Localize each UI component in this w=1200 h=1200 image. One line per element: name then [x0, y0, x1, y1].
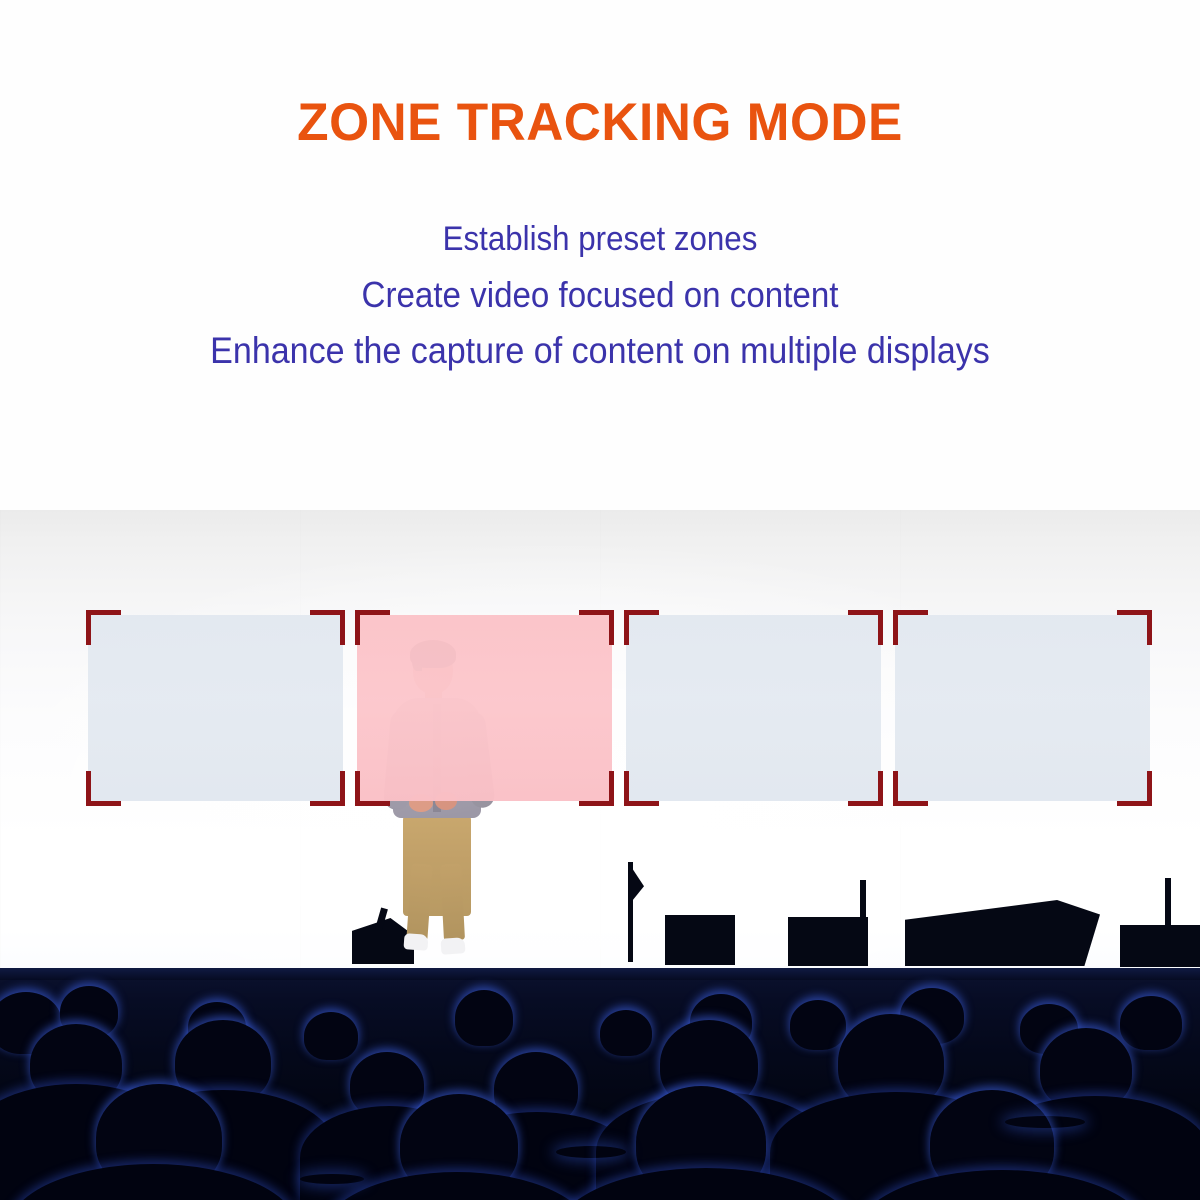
audience-head: [304, 1012, 358, 1060]
zone-4-bracket-bottom-right: [1117, 771, 1152, 806]
zone-1-bracket-bottom-left: [86, 771, 121, 806]
zone-3-bracket-top-right: [848, 610, 883, 645]
rim-light-glint: [556, 1146, 626, 1158]
audience-head: [600, 1010, 652, 1056]
zone-4-bracket-bottom-left: [893, 771, 928, 806]
audience-head: [455, 990, 513, 1046]
zone-3-fill: [626, 615, 881, 801]
zone-2-bracket-bottom-right: [579, 771, 614, 806]
promo-panel: ZONE TRACKING MODE Establish preset zone…: [0, 0, 1200, 1200]
zone-4-fill: [895, 615, 1150, 801]
stage-photo: [0, 510, 1200, 1200]
zone-2-fill: [357, 615, 612, 801]
rim-light-glint: [300, 1174, 364, 1184]
audience-head: [1120, 996, 1182, 1050]
zone-1-bracket-top-right: [310, 610, 345, 645]
feature-list: Establish preset zones Create video focu…: [0, 212, 1200, 379]
zone-4-bracket-top-right: [1117, 610, 1152, 645]
audience-head: [790, 1000, 846, 1050]
zone-1-bracket-top-left: [86, 610, 121, 645]
tracking-zones-overlay: [0, 510, 1200, 972]
tracking-zone-1[interactable]: [88, 615, 343, 801]
tracking-zone-2[interactable]: [357, 615, 612, 801]
zone-2-bracket-top-right: [579, 610, 614, 645]
feature-line-3: Enhance the capture of content on multip…: [48, 322, 1152, 379]
zone-2-bracket-bottom-left: [355, 771, 390, 806]
zone-4-bracket-top-left: [893, 610, 928, 645]
feature-line-1: Establish preset zones: [48, 212, 1152, 267]
tracking-zone-4[interactable]: [895, 615, 1150, 801]
feature-line-2: Create video focused on content: [48, 267, 1152, 322]
page-title: ZONE TRACKING MODE: [18, 92, 1182, 153]
zone-3-bracket-bottom-left: [624, 771, 659, 806]
zone-1-fill: [88, 615, 343, 801]
tracking-zone-3[interactable]: [626, 615, 881, 801]
audience-silhouettes: [0, 968, 1200, 1200]
zone-3-bracket-bottom-right: [848, 771, 883, 806]
zone-1-bracket-bottom-right: [310, 771, 345, 806]
text-block: ZONE TRACKING MODE Establish preset zone…: [0, 0, 1200, 510]
zone-2-bracket-top-left: [355, 610, 390, 645]
stage-floor-edge: [0, 968, 1200, 980]
zone-3-bracket-top-left: [624, 610, 659, 645]
rim-light-glint: [1005, 1116, 1085, 1128]
